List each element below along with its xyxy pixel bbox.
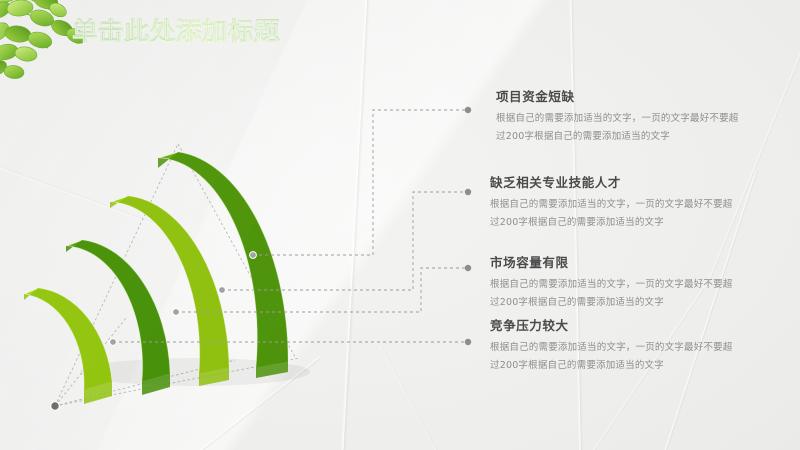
text-dot-2	[465, 189, 471, 195]
item-body-line: 过200字根据自己的需要添加适当的文字	[490, 357, 800, 375]
origin-pivot-dot	[51, 402, 59, 410]
blade-dot-1	[110, 339, 117, 346]
item-body: 根据自己的需要添加适当的文字，一页的文字最好不要超 过200字根据自己的需要添加…	[490, 276, 800, 311]
blade-dot-3	[219, 287, 226, 294]
blade-dot-4	[250, 252, 257, 259]
item-body-line: 过200字根据自己的需要添加适当的文字	[490, 294, 800, 312]
item-body: 根据自己的需要添加适当的文字，一页的文字最好不要超 过200字根据自己的需要添加…	[490, 196, 800, 231]
arc-blade-1	[24, 288, 112, 404]
item-heading: 缺乏相关专业技能人才	[490, 172, 800, 191]
item-body-line: 根据自己的需要添加适当的文字，一页的文字最好不要超	[490, 276, 800, 294]
text-block-1[interactable]: 项目资金短缺 根据自己的需要添加适当的文字，一页的文字最好不要超 过200字根据…	[496, 86, 800, 145]
item-heading: 项目资金短缺	[496, 86, 800, 105]
item-body-line: 根据自己的需要添加适当的文字，一页的文字最好不要超	[490, 196, 800, 214]
text-dot-4	[465, 339, 471, 345]
item-body-line: 根据自己的需要添加适当的文字，一页的文字最好不要超	[490, 339, 800, 357]
item-body-line: 过200字根据自己的需要添加适当的文字	[496, 128, 800, 146]
text-dot-3	[465, 265, 471, 271]
item-body-line: 过200字根据自己的需要添加适当的文字	[490, 214, 800, 232]
item-heading: 市场容量有限	[490, 252, 800, 271]
slide-canvas: 单击此处添加标题	[0, 0, 800, 450]
item-heading: 竞争压力较大	[490, 315, 800, 334]
item-body: 根据自己的需要添加适当的文字，一页的文字最好不要超 过200字根据自己的需要添加…	[496, 110, 800, 145]
text-block-2[interactable]: 缺乏相关专业技能人才 根据自己的需要添加适当的文字，一页的文字最好不要超 过20…	[490, 172, 800, 231]
connector-line-1	[253, 110, 468, 255]
text-dot-1	[465, 107, 471, 113]
item-body: 根据自己的需要添加适当的文字，一页的文字最好不要超 过200字根据自己的需要添加…	[490, 339, 800, 374]
text-block-3[interactable]: 市场容量有限 根据自己的需要添加适当的文字，一页的文字最好不要超 过200字根据…	[490, 252, 800, 311]
blade-dot-2	[173, 309, 180, 316]
text-block-4[interactable]: 竞争压力较大 根据自己的需要添加适当的文字，一页的文字最好不要超 过200字根据…	[490, 315, 800, 374]
item-body-line: 根据自己的需要添加适当的文字，一页的文字最好不要超	[496, 110, 800, 128]
text-connector-dots	[465, 107, 471, 345]
